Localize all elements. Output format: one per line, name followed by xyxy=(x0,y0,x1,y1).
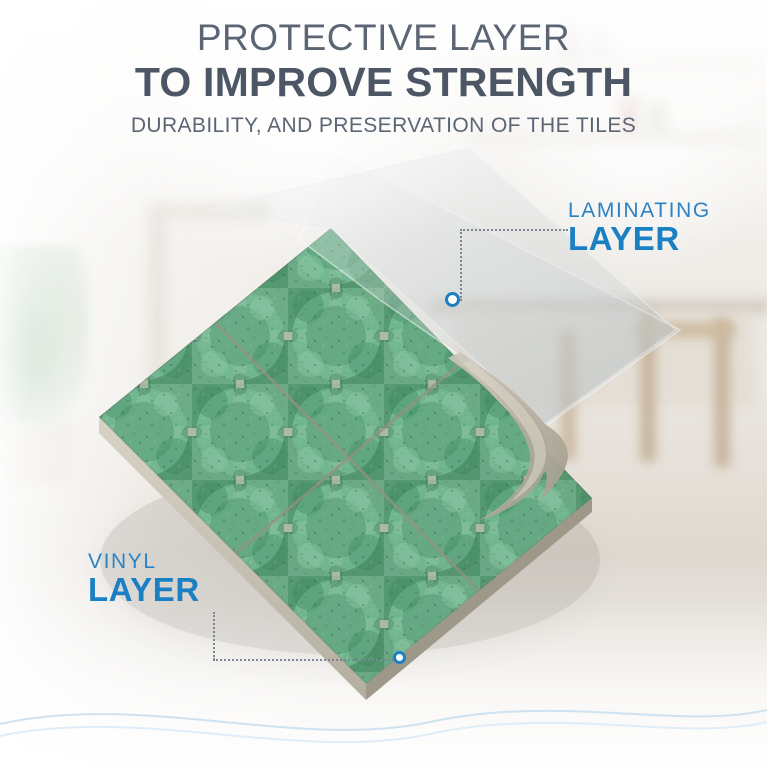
heading-line-3: DURABILITY, AND PRESERVATION OF THE TILE… xyxy=(0,113,767,138)
callout-laminating-main: LAYER xyxy=(568,222,711,257)
leader-line-horizontal xyxy=(213,659,401,661)
heading-block: PROTECTIVE LAYER TO IMPROVE STRENGTH DUR… xyxy=(0,18,767,138)
callout-laminating-sub: LAMINATING xyxy=(568,200,711,222)
anchor-dot-laminating-icon xyxy=(445,292,460,307)
callout-vinyl-sub: VINYL xyxy=(88,551,200,573)
leader-line-vertical xyxy=(460,229,462,301)
heading-line-2: TO IMPROVE STRENGTH xyxy=(0,60,767,106)
callout-laminating-layer: LAMINATING LAYER xyxy=(568,200,711,257)
leader-line-vertical xyxy=(213,612,215,660)
bottom-wave-decoration xyxy=(0,672,767,767)
callout-vinyl-main: LAYER xyxy=(88,573,200,608)
leader-line-horizontal xyxy=(460,229,568,231)
callout-vinyl-layer: VINYL LAYER xyxy=(88,551,200,608)
anchor-dot-vinyl-icon xyxy=(393,651,406,664)
heading-line-1: PROTECTIVE LAYER xyxy=(0,18,767,58)
